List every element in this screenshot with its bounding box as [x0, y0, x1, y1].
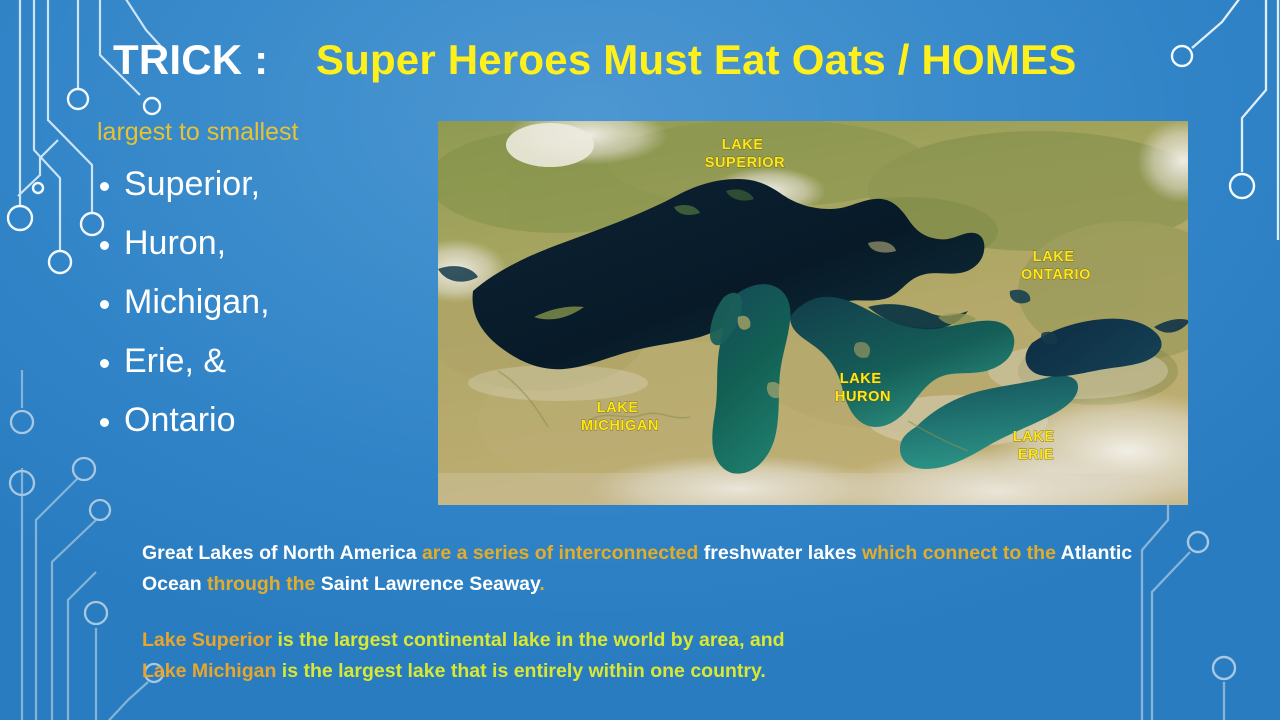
- caption1-seg3: freshwater lakes: [704, 542, 862, 564]
- title-prefix: TRICK :: [113, 36, 268, 83]
- caption-paragraph-2: Lake Superior is the largest continental…: [142, 625, 1152, 687]
- lake-list: Superior, Huron, Michigan, Erie, & Ontar…: [97, 155, 427, 450]
- caption2-seg4: is the largest lake that is entirely wit…: [276, 660, 765, 682]
- list-item-label: Superior,: [124, 165, 260, 203]
- caption1-seg2: are a series of interconnected: [422, 542, 704, 564]
- slide-title: TRICK : Super Heroes Must Eat Oats / HOM…: [113, 36, 1203, 84]
- great-lakes-satellite-image: LAKE SUPERIOR LAKE ONTARIO LAKE HURON LA…: [438, 121, 1188, 505]
- caption1-seg4: which connect to the: [862, 542, 1061, 564]
- caption1-seg8: .: [539, 573, 544, 595]
- caption2-seg1: Lake Superior: [142, 629, 272, 651]
- title-mnemonic: Super Heroes Must Eat Oats / HOMES: [316, 36, 1077, 83]
- list-item-huron: Huron,: [97, 214, 427, 273]
- list-item-michigan: Michigan,: [97, 273, 427, 332]
- list-lead-in: largest to smallest: [97, 118, 298, 147]
- caption2-seg2: is the largest continental lake in the w…: [272, 629, 785, 651]
- list-item-erie: Erie, &: [97, 332, 427, 391]
- caption-paragraph-1: Great Lakes of North America are a serie…: [142, 538, 1152, 600]
- list-item-label: Michigan,: [124, 283, 270, 321]
- caption1-seg7: Saint Lawrence Seaway: [321, 573, 540, 595]
- caption1-seg6: through the: [207, 573, 321, 595]
- caption2-seg3: Lake Michigan: [142, 660, 276, 682]
- list-item-label: Huron,: [124, 224, 226, 262]
- slide-canvas: TRICK : Super Heroes Must Eat Oats / HOM…: [0, 0, 1280, 720]
- list-item-label: Ontario: [124, 401, 236, 439]
- list-item-ontario: Ontario: [97, 391, 427, 450]
- caption1-seg1: Great Lakes of North America: [142, 542, 422, 564]
- map-graphic: LAKE SUPERIOR LAKE ONTARIO LAKE HURON LA…: [438, 121, 1188, 505]
- list-item-superior: Superior,: [97, 155, 427, 214]
- list-item-label: Erie, &: [124, 342, 226, 380]
